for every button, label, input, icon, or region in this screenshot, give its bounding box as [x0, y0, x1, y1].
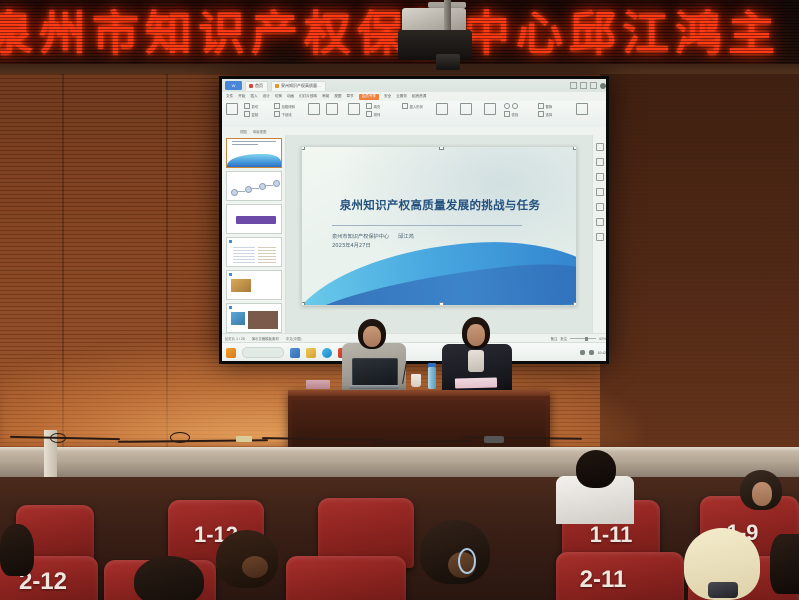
- chart-icon[interactable]: [596, 203, 604, 211]
- thumb-table-left: [233, 247, 255, 263]
- more-options-icon: [576, 103, 588, 115]
- current-slide[interactable]: 泉州知识产权高质量发展的挑战与任务 泉州市知识产权保护中心邱江鸿 2023年4月…: [301, 146, 577, 306]
- tab-icon-home: [249, 84, 253, 88]
- wps-logo: W: [225, 81, 242, 90]
- zoom-slider[interactable]: [570, 338, 596, 339]
- slide-thumbnail-panel[interactable]: 1 2: [222, 135, 286, 333]
- menu-item-resources[interactable]: 稻壳资源: [412, 94, 426, 99]
- design-ideas-icon[interactable]: [596, 143, 604, 151]
- template-icon[interactable]: [596, 173, 604, 181]
- projection-screen: W 首页 泉州知识产权高质量… 文件 开始: [222, 79, 606, 361]
- ribbon-toolbar[interactable]: 剪切 复制 加粗倾斜 下划线: [222, 101, 606, 128]
- thumbnail-number: 4: [226, 249, 227, 253]
- shapes-icon: [348, 103, 360, 115]
- menu-item-member[interactable]: 会员专享: [359, 94, 379, 100]
- conference-hall-scene: 泉州市知识产权保护中心邱江鸿主 W 首页 泉州知识产权高质量…: [0, 0, 799, 600]
- audience-head: [134, 556, 204, 600]
- thumb-header-mark: [229, 306, 232, 309]
- selection-handle-tr[interactable]: [573, 146, 577, 150]
- insert-shape-icon: [402, 103, 408, 109]
- ceiling-projector: [398, 0, 490, 70]
- wps-titlebar: W 首页 泉州知识产权高质量…: [222, 79, 606, 92]
- thumbnail-number: 1: [226, 150, 227, 154]
- columns-icon: [326, 103, 338, 115]
- close-icon[interactable]: [590, 82, 597, 89]
- subbar-view-label[interactable]: 视图: [240, 129, 247, 134]
- menu-item-slideshow[interactable]: 幻灯片放映: [299, 94, 317, 99]
- ribbon-arrange-button[interactable]: 排列: [366, 111, 380, 117]
- menu-item-security[interactable]: 安全: [384, 94, 391, 99]
- seat-label: 1-11: [562, 522, 660, 548]
- find-icon: [504, 111, 510, 117]
- thumb-photo-small: [231, 312, 245, 325]
- menu-item-transition[interactable]: 切换: [275, 94, 282, 99]
- menu-item-insert[interactable]: 插入: [250, 94, 257, 99]
- status-language[interactable]: 中文(中国): [286, 336, 302, 341]
- paper-cup: [411, 374, 421, 387]
- app-tab-document-label: 泉州知识产权高质量…: [281, 83, 321, 89]
- cut-icon: [244, 103, 250, 109]
- slide-subtitle-org: 泉州市知识产权保护中心: [332, 234, 389, 240]
- underline-icon: [274, 111, 280, 117]
- media-icon[interactable]: [596, 188, 604, 196]
- speaker-right-blouse: [468, 350, 484, 372]
- table-top-surface: [288, 390, 550, 396]
- ribbon-copy-button[interactable]: 复制: [244, 111, 258, 117]
- floor-power-brick: [484, 436, 504, 443]
- ribbon-select-button[interactable]: 选择: [538, 111, 552, 117]
- seat-2-11[interactable]: 2-11: [556, 552, 684, 600]
- ribbon-bold-button[interactable]: 加粗倾斜: [274, 103, 295, 109]
- laptop-base: [349, 385, 399, 389]
- stage-edge-lip: [0, 447, 799, 452]
- taskbar-search-box[interactable]: [242, 347, 284, 358]
- align-icon: [308, 103, 320, 115]
- water-bottle: [428, 367, 436, 389]
- menu-item-section[interactable]: 章节: [346, 94, 353, 99]
- slide-thumbnail-6[interactable]: 6: [226, 303, 282, 333]
- ribbon-table-button[interactable]: [484, 103, 496, 115]
- help-icon[interactable]: [596, 233, 604, 241]
- ribbon-fill-button[interactable]: 填充: [366, 103, 380, 109]
- zoom-slider-knob[interactable]: [585, 337, 588, 341]
- hair-bun: [242, 556, 268, 578]
- ribbon-copy-label: 复制: [252, 112, 259, 117]
- projection-screen-frame: W 首页 泉州知识产权高质量… 文件 开始: [219, 76, 609, 364]
- ribbon-shapes-button[interactable]: [348, 103, 360, 115]
- thumbnail-number: 6: [226, 315, 227, 319]
- audience-head: [576, 450, 616, 488]
- selection-handle-bl[interactable]: [301, 302, 305, 306]
- thumbnail-number: 3: [226, 216, 227, 220]
- status-template-name: 演示文稿模板素材: [252, 336, 279, 341]
- ribbon-insert-shape-label: 插入形状: [410, 104, 424, 109]
- copy-icon: [244, 111, 250, 117]
- menu-item-review[interactable]: 审阅: [322, 94, 329, 99]
- status-bar-right[interactable]: 备注 批注 62%: [551, 336, 606, 341]
- cable-loop: [50, 433, 66, 443]
- ribbon-select-label: 选择: [546, 112, 553, 117]
- replace-icon: [538, 103, 544, 109]
- slide-thumbnail-5[interactable]: 5: [226, 270, 282, 300]
- select-icon: [538, 111, 544, 117]
- volume-icon[interactable]: [589, 350, 594, 355]
- circle-icon: [512, 103, 518, 109]
- audience-head: [770, 534, 799, 594]
- right-side-toolbar[interactable]: [592, 135, 606, 333]
- speaker-left-face: [363, 326, 381, 347]
- cable-loop: [170, 432, 190, 443]
- slide-thumbnail-3[interactable]: 3: [226, 204, 282, 234]
- slide-thumbnail-2[interactable]: 2: [226, 171, 282, 201]
- network-icon[interactable]: [580, 350, 585, 355]
- ribbon-smartart-button[interactable]: [436, 103, 448, 115]
- thumb-wave-graphic: [227, 154, 281, 167]
- seat-label: 2-11: [522, 566, 684, 594]
- thumb-header-mark: [229, 273, 232, 276]
- ribbon-circle-tool-1[interactable]: [504, 103, 518, 109]
- selection-handle-br[interactable]: [573, 302, 577, 306]
- bold-icon: [274, 103, 280, 109]
- slide-thumbnail-4[interactable]: 4: [226, 237, 282, 267]
- ribbon-align-button[interactable]: [308, 103, 320, 115]
- taskbar-tray[interactable]: 10:42: [580, 350, 607, 355]
- menu-item-animation[interactable]: 动画: [287, 94, 294, 99]
- minimize-icon[interactable]: [570, 82, 577, 89]
- table-icon: [484, 103, 496, 115]
- file-explorer-icon[interactable]: [306, 348, 316, 358]
- documents-on-table: [455, 377, 497, 388]
- ribbon-bold-label: 加粗倾斜: [282, 104, 296, 109]
- menu-item-cloud[interactable]: 云服务: [396, 94, 407, 99]
- windows-taskbar[interactable]: 10:42: [222, 342, 606, 361]
- hair-clip: [708, 582, 738, 598]
- window-controls[interactable]: [570, 82, 606, 89]
- fill-icon: [366, 103, 372, 109]
- format-pane-icon[interactable]: [596, 158, 604, 166]
- thumbnail-number: 2: [226, 183, 227, 187]
- ribbon-replace-button[interactable]: 替换: [538, 103, 552, 109]
- start-button-icon[interactable]: [226, 348, 236, 358]
- table-nameplate: [306, 380, 330, 389]
- subbar-master-label[interactable]: 母版视图: [253, 129, 267, 134]
- thumb-sub-line: [232, 144, 258, 145]
- ribbon-more-button[interactable]: [576, 103, 588, 115]
- thumb-table-right: [258, 247, 276, 263]
- ribbon-cut-label: 剪切: [252, 104, 259, 109]
- projector-foot: [436, 54, 460, 70]
- app-tab-home-label: 首页: [255, 83, 263, 89]
- cable-tape-marker: [236, 436, 252, 442]
- thumbnail-number: 5: [226, 282, 227, 286]
- ribbon-cut-button[interactable]: 剪切: [244, 103, 258, 109]
- ribbon-arrange-label: 排列: [374, 112, 381, 117]
- presenter-table: [288, 390, 550, 453]
- selection-handle-b[interactable]: [439, 302, 444, 306]
- app-tab-document[interactable]: 泉州知识产权高质量…: [271, 81, 326, 91]
- slide-canvas-area[interactable]: 泉州知识产权高质量发展的挑战与任务 泉州市知识产权保护中心邱江鸿 2023年4月…: [286, 135, 592, 333]
- ribbon-insert-shape-button[interactable]: 插入形状: [402, 103, 423, 109]
- menu-item-home[interactable]: 开始: [238, 94, 245, 99]
- projector-lens-housing: [398, 30, 472, 60]
- laptop: [352, 358, 396, 388]
- browser-icon[interactable]: [322, 348, 332, 358]
- ribbon-find-label: 查找: [512, 112, 519, 117]
- audience-head: [0, 524, 34, 576]
- ribbon-fill-label: 填充: [374, 104, 381, 109]
- tab-icon-presentation: [275, 84, 279, 88]
- seat[interactable]: [286, 556, 406, 600]
- slide-divider: [332, 225, 522, 226]
- zoom-level-label: 62%: [599, 337, 606, 341]
- status-notes-button[interactable]: 备注: [551, 336, 558, 341]
- taskbar-clock: 10:42: [598, 351, 607, 355]
- ribbon-paste-button[interactable]: [226, 103, 238, 115]
- slide-title: 泉州知识产权高质量发展的挑战与任务: [330, 197, 550, 213]
- speaker-right-face: [467, 324, 485, 346]
- smartart-icon: [436, 103, 448, 115]
- ellipse-icon: [504, 103, 510, 109]
- laptop-screen: [352, 358, 398, 387]
- menu-item-design[interactable]: 设计: [263, 94, 270, 99]
- slide-subtitle-date: 2023年4月27日: [332, 243, 371, 249]
- ribbon-underline-label: 下划线: [282, 112, 292, 117]
- restore-icon[interactable]: [580, 82, 587, 89]
- picture-icon: [460, 103, 472, 115]
- menu-item-file[interactable]: 文件: [226, 94, 233, 99]
- thumb-title-line: [232, 141, 276, 142]
- ribbon-columns-button[interactable]: [326, 103, 338, 115]
- app-tab-home[interactable]: 首页: [245, 81, 268, 91]
- slide-subtitle-block: 泉州市知识产权保护中心邱江鸿 2023年4月27日: [332, 233, 414, 251]
- status-slide-count: 幻灯片 1 / 28: [225, 336, 245, 341]
- ribbon-replace-label: 替换: [546, 104, 553, 109]
- cloud-icon[interactable]: [596, 218, 604, 226]
- ribbon-underline-button[interactable]: 下划线: [274, 111, 295, 117]
- thumb-section-banner: [236, 216, 276, 224]
- thumb-photo-large: [248, 311, 278, 329]
- arrange-icon: [366, 111, 372, 117]
- selection-handle-tl[interactable]: [301, 146, 305, 150]
- slide-subtitle-name: 邱江鸿: [398, 234, 414, 240]
- audience-face: [752, 482, 772, 506]
- thumb-header-mark: [229, 240, 232, 243]
- status-comments-button[interactable]: 批注: [560, 336, 567, 341]
- slide-thumbnail-1[interactable]: 1: [226, 138, 282, 168]
- task-view-icon[interactable]: [290, 348, 300, 358]
- ribbon-picture-button[interactable]: [460, 103, 472, 115]
- account-circle-icon[interactable]: [600, 83, 606, 89]
- selection-handle-t[interactable]: [439, 146, 444, 150]
- thumb-photo: [231, 279, 251, 292]
- hair-bow: [458, 548, 476, 574]
- menu-item-view[interactable]: 视图: [334, 94, 341, 99]
- ribbon-find-button[interactable]: 查找: [504, 111, 518, 117]
- paste-icon: [226, 103, 238, 115]
- ribbon-menu-bar[interactable]: 文件 开始 插入 设计 切换 动画 幻灯片放映 审阅 视图 章节 会员专享 安全…: [222, 92, 606, 101]
- thumb-diagram: [231, 177, 279, 199]
